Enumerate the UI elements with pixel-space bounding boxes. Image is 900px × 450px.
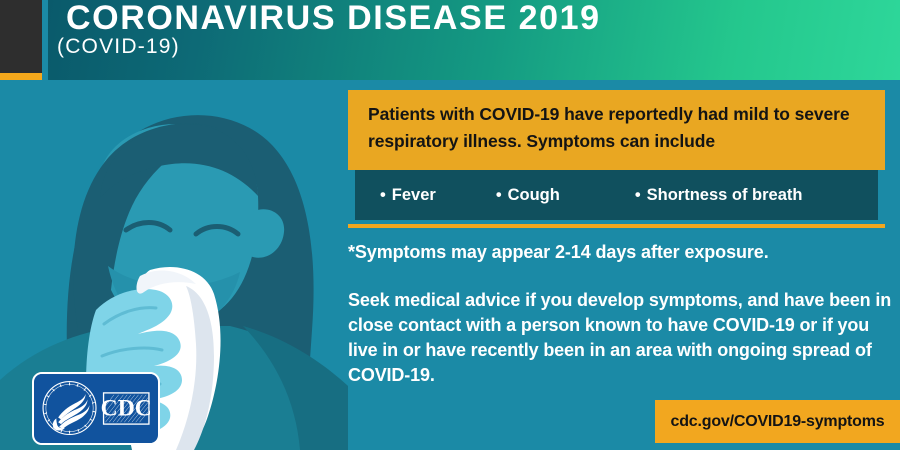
symptom-label: Fever xyxy=(392,186,436,204)
callout-box: Patients with COVID-19 have reportedly h… xyxy=(348,90,885,170)
page-subtitle: (COVID-19) xyxy=(57,32,180,62)
medical-advice-block: Seek medical advice if you develop sympt… xyxy=(348,288,893,388)
bullet-icon: • xyxy=(635,186,641,205)
medical-advice-text: Seek medical advice if you develop sympt… xyxy=(348,288,893,388)
cdc-logo[interactable]: CDC xyxy=(32,372,160,445)
header-dark-accent-bar xyxy=(0,0,42,73)
orange-divider xyxy=(348,224,885,228)
symptom-item-cough: •Cough xyxy=(496,186,560,205)
url-badge[interactable]: cdc.gov/COVID19-symptoms xyxy=(655,400,900,443)
callout-text: Patients with COVID-19 have reportedly h… xyxy=(368,101,867,155)
url-badge-label: cdc.gov/COVID19-symptoms xyxy=(671,413,885,431)
incubation-note: *Symptoms may appear 2-14 days after exp… xyxy=(348,239,888,265)
symptoms-bar: •Fever •Cough •Shortness of breath xyxy=(355,170,878,220)
symptom-item-shortness-of-breath: •Shortness of breath xyxy=(635,186,803,205)
symptom-label: Shortness of breath xyxy=(647,186,803,204)
cdc-logo-wordmark: CDC xyxy=(101,396,152,422)
symptom-item-fever: •Fever xyxy=(380,186,436,205)
bullet-icon: • xyxy=(496,186,502,205)
poster-canvas: CORONAVIRUS DISEASE 2019 (COVID-19) xyxy=(0,0,900,450)
symptom-label: Cough xyxy=(508,186,560,204)
bullet-icon: • xyxy=(380,186,386,205)
